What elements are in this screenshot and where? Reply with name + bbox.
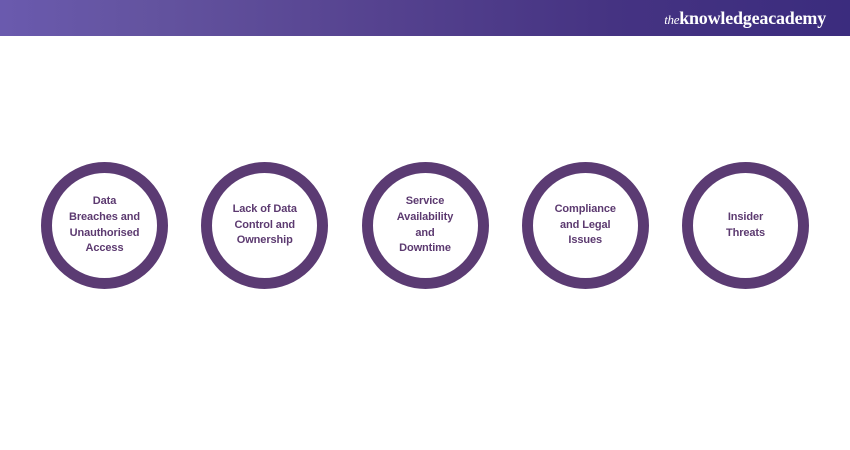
circle-diagram: Data Breaches and Unauthorised Access La… xyxy=(41,162,809,289)
circle-label-1: Data Breaches and Unauthorised Access xyxy=(58,194,152,258)
diagram-circle-1[interactable]: Data Breaches and Unauthorised Access xyxy=(41,162,168,289)
circle-label-2: Lack of Data Control and Ownership xyxy=(218,202,312,250)
page-header: theknowledgeacademy xyxy=(0,0,850,36)
logo-the-text: the xyxy=(664,12,679,27)
logo-knowledge-text: knowledge xyxy=(679,8,759,28)
diagram-circle-2[interactable]: Lack of Data Control and Ownership xyxy=(201,162,328,289)
diagram-circle-3[interactable]: Service Availability and Downtime xyxy=(362,162,489,289)
circle-label-3: Service Availability and Downtime xyxy=(378,194,472,258)
circle-label-5: Insider Threats xyxy=(699,210,793,242)
circle-label-4: Compliance and Legal Issues xyxy=(538,202,632,250)
diagram-canvas: Data Breaches and Unauthorised Access La… xyxy=(0,36,850,450)
logo-academy-text: academy xyxy=(759,8,826,28)
diagram-circle-5[interactable]: Insider Threats xyxy=(682,162,809,289)
brand-logo[interactable]: theknowledgeacademy xyxy=(664,9,826,28)
diagram-circle-4[interactable]: Compliance and Legal Issues xyxy=(522,162,649,289)
